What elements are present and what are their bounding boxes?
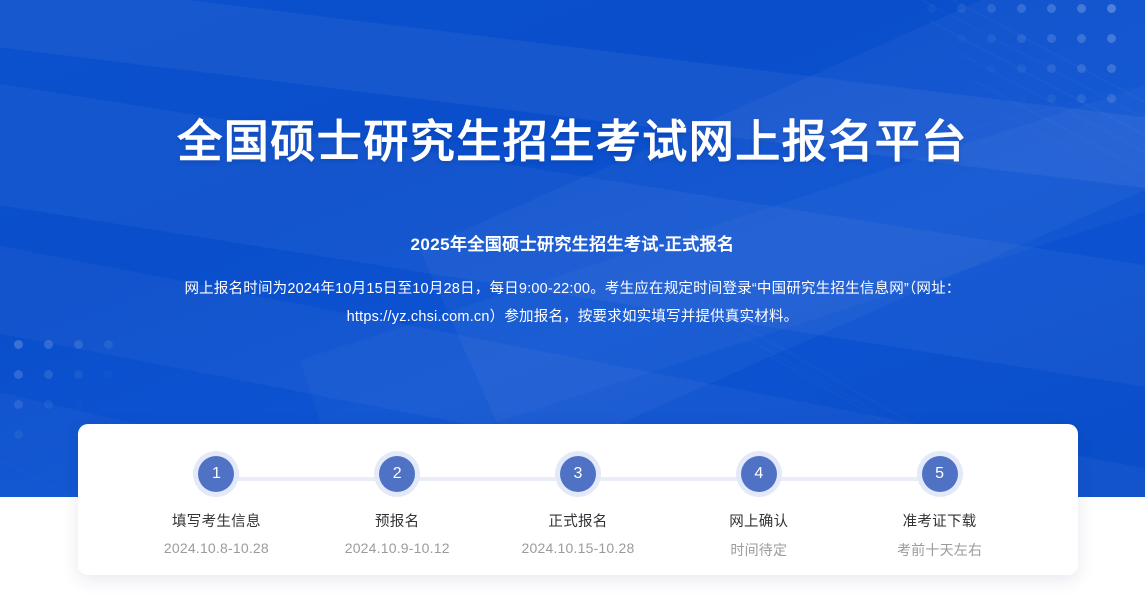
decorative-dot [44, 400, 53, 409]
step-item[interactable]: 1填写考生信息2024.10.8-10.28 [126, 424, 307, 575]
step-item[interactable]: 4网上确认时间待定 [668, 424, 849, 575]
decorative-dot [14, 370, 23, 379]
decorative-dot [14, 340, 23, 349]
step-date: 2024.10.8-10.28 [164, 540, 269, 556]
step-label: 准考证下载 [903, 510, 977, 531]
decorative-dot [74, 340, 83, 349]
step-date: 时间待定 [730, 540, 787, 560]
step-number-badge: 1 [198, 456, 234, 492]
decorative-dot [104, 370, 113, 379]
step-item[interactable]: 3正式报名2024.10.15-10.28 [488, 424, 669, 575]
decorative-dot [44, 370, 53, 379]
hero-content: 全国硕士研究生招生考试网上报名平台 2025年全国硕士研究生招生考试-正式报名 … [0, 0, 1145, 331]
decorative-dot [104, 340, 113, 349]
decorative-dot [14, 430, 23, 439]
step-timeline: 1填写考生信息2024.10.8-10.282预报名2024.10.9-10.1… [78, 424, 1078, 575]
exam-subtitle: 2025年全国硕士研究生招生考试-正式报名 [0, 168, 1145, 255]
step-number-badge: 3 [560, 456, 596, 492]
hero-banner: 全国硕士研究生招生考试网上报名平台 2025年全国硕士研究生招生考试-正式报名 … [0, 0, 1145, 497]
decorative-dot [44, 430, 53, 439]
step-label: 填写考生信息 [172, 510, 261, 531]
step-label: 网上确认 [729, 510, 788, 531]
page-title: 全国硕士研究生招生考试网上报名平台 [0, 0, 1145, 168]
description-line-2: https://yz.chsi.com.cn）参加报名，按要求如实填写并提供真实… [118, 303, 1028, 331]
decorative-dot [14, 460, 23, 469]
step-label: 预报名 [375, 510, 419, 531]
decorative-dot [14, 400, 23, 409]
step-date: 考前十天左右 [897, 540, 982, 560]
step-label: 正式报名 [548, 510, 607, 531]
step-number-badge: 4 [741, 456, 777, 492]
step-number-badge: 5 [922, 456, 958, 492]
description-line-1: 网上报名时间为2024年10月15日至10月28日，每日9:00-22:00。考… [118, 275, 1028, 303]
registration-description: 网上报名时间为2024年10月15日至10月28日，每日9:00-22:00。考… [118, 255, 1028, 331]
step-item[interactable]: 5准考证下载考前十天左右 [849, 424, 1030, 575]
step-item[interactable]: 2预报名2024.10.9-10.12 [307, 424, 488, 575]
decorative-dot [74, 370, 83, 379]
decorative-dot [74, 400, 83, 409]
decorative-dot [44, 340, 53, 349]
registration-platform-page: 全国硕士研究生招生考试网上报名平台 2025年全国硕士研究生招生考试-正式报名 … [0, 0, 1145, 600]
step-number-badge: 2 [379, 456, 415, 492]
steps-card: 1填写考生信息2024.10.8-10.282预报名2024.10.9-10.1… [78, 424, 1078, 575]
step-date: 2024.10.9-10.12 [345, 540, 450, 556]
step-date: 2024.10.15-10.28 [522, 540, 635, 556]
